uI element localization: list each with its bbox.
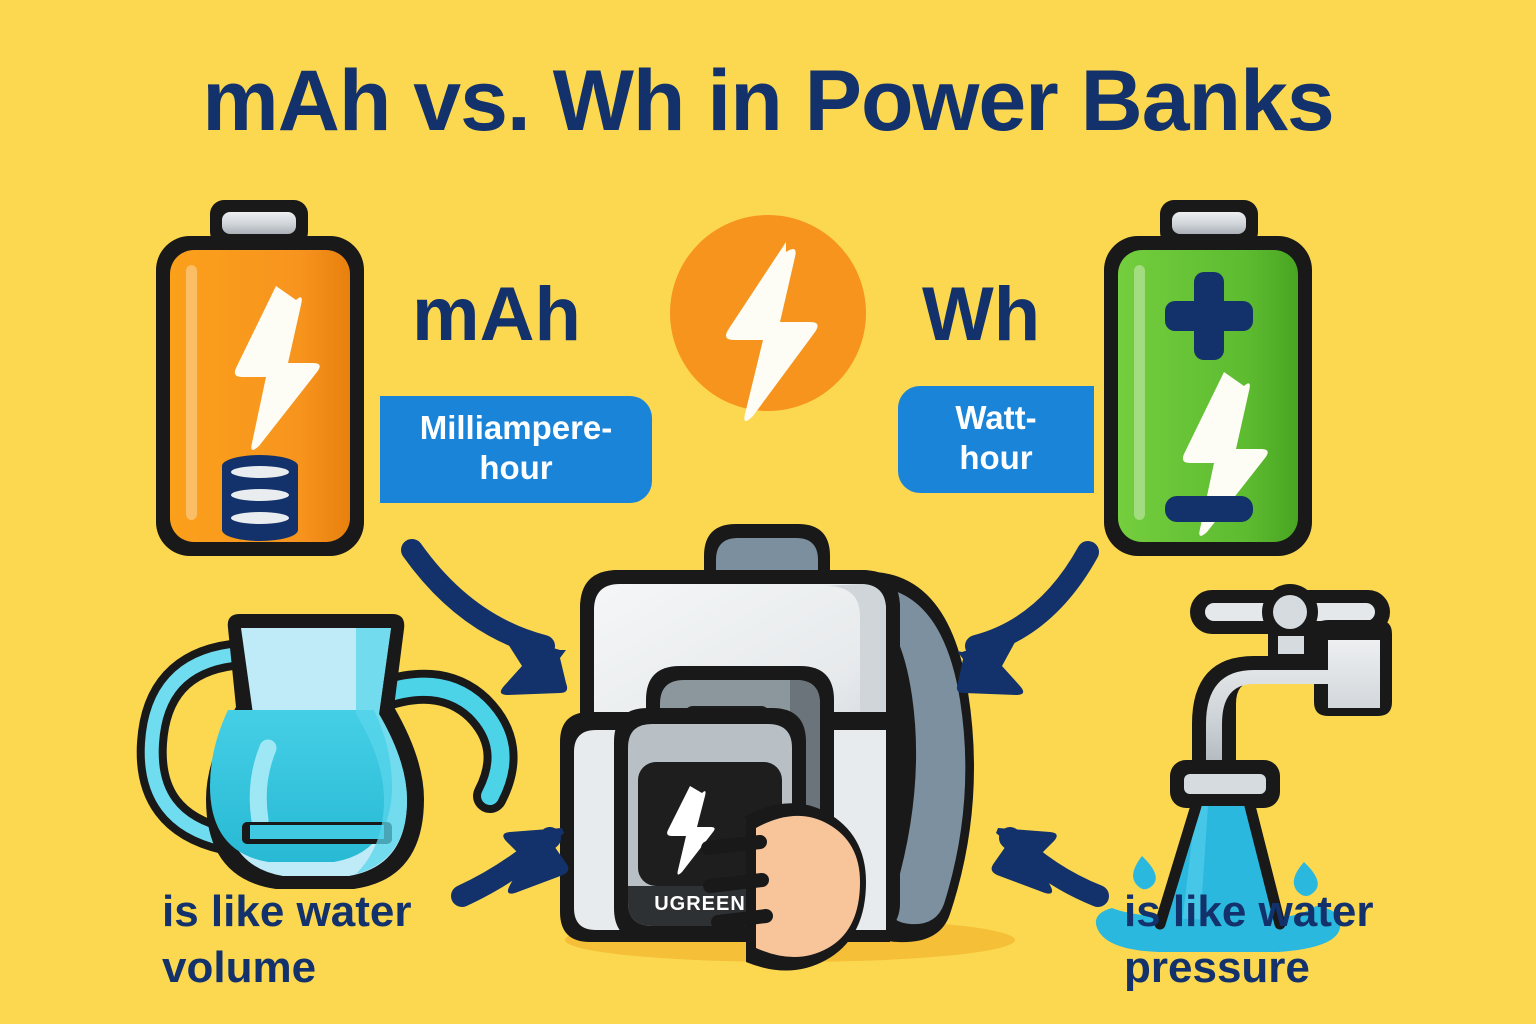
arrow-faucet-to-powerbank <box>992 828 1098 896</box>
caption-water-volume: is like water volume <box>162 884 492 997</box>
brand-label: UGREEN <box>654 893 746 915</box>
artwork-layer: UGREEN <box>0 0 1536 1024</box>
orange-battery-icon <box>156 200 364 556</box>
minus-icon <box>1165 496 1253 522</box>
badge-milliampere-hour: Milliampere-hour <box>380 396 652 503</box>
unit-label-wh: Wh <box>922 277 1040 353</box>
water-pitcher-icon <box>152 614 501 889</box>
unit-label-mah: mAh <box>412 277 581 353</box>
page-title: mAh vs. Wh in Power Banks <box>0 58 1536 144</box>
backpack-icon: UGREEN <box>560 524 1015 971</box>
arrow-wh-to-powerbank <box>957 552 1088 695</box>
lightning-bolt-circle-icon <box>670 215 866 421</box>
green-battery-icon <box>1104 200 1312 556</box>
infographic-canvas: UGREEN <box>0 0 1536 1024</box>
caption-water-pressure: is like water pressure <box>1124 884 1464 997</box>
database-stack-icon <box>222 455 298 541</box>
badge-watt-hour: Watt-hour <box>898 386 1094 493</box>
